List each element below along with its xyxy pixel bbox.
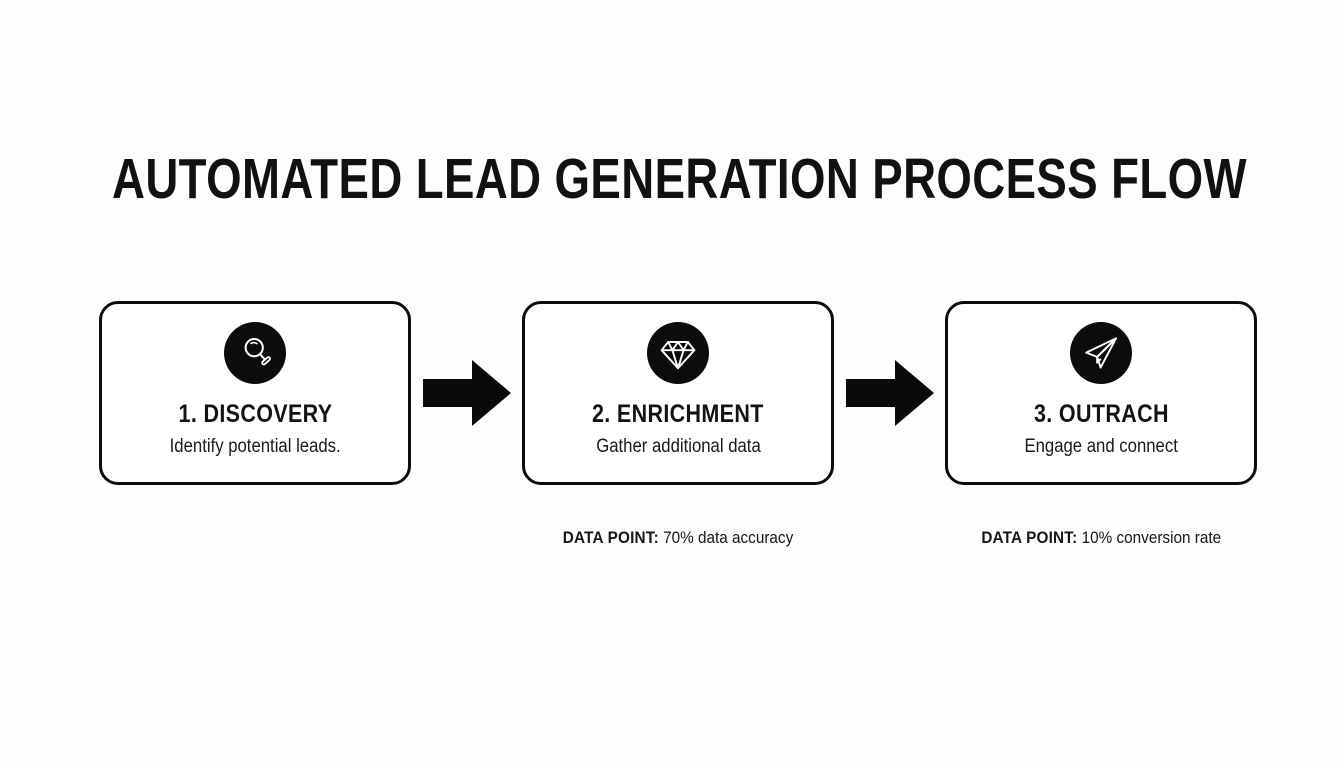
data-point-value: 70% data accuracy [663, 528, 793, 547]
paper-plane-icon [1070, 322, 1132, 384]
process-step-card-1[interactable]: 1. DISCOVERY Identify potential leads. [99, 301, 411, 485]
data-point-step-3: DATA POINT: 10% conversion rate [945, 528, 1257, 548]
process-step-title: 1. DISCOVERY [178, 400, 332, 429]
slide-canvas: AUTOMATED LEAD GENERATION PROCESS FLOW 1… [0, 0, 1344, 768]
data-point-step-2: DATA POINT: 70% data accuracy [522, 528, 834, 548]
data-point-label: DATA POINT: [981, 528, 1077, 547]
process-step-card-3[interactable]: 3. OUTRACH Engage and connect [945, 301, 1257, 485]
process-step-title: 3. OUTRACH [1034, 400, 1169, 429]
data-point-value: 10% conversion rate [1081, 528, 1220, 547]
page-title: AUTOMATED LEAD GENERATION PROCESS FLOW [112, 148, 1247, 210]
process-step-subtitle: Identify potential leads. [169, 436, 340, 458]
process-step-card-2[interactable]: 2. ENRICHMENT Gather additional data [522, 301, 834, 485]
data-point-label: DATA POINT: [563, 528, 659, 547]
right-arrow-icon [845, 357, 935, 429]
process-flow-row: 1. DISCOVERY Identify potential leads. [99, 301, 1257, 485]
data-point-row: DATA POINT: 70% data accuracy DATA POINT… [99, 528, 1257, 558]
right-arrow-icon [422, 357, 512, 429]
diamond-icon [647, 322, 709, 384]
magnifier-icon [224, 322, 286, 384]
process-step-subtitle: Gather additional data [596, 436, 761, 458]
data-point-step-1 [99, 528, 411, 548]
process-step-subtitle: Engage and connect [1024, 436, 1177, 458]
process-step-title: 2. ENRICHMENT [592, 400, 764, 429]
